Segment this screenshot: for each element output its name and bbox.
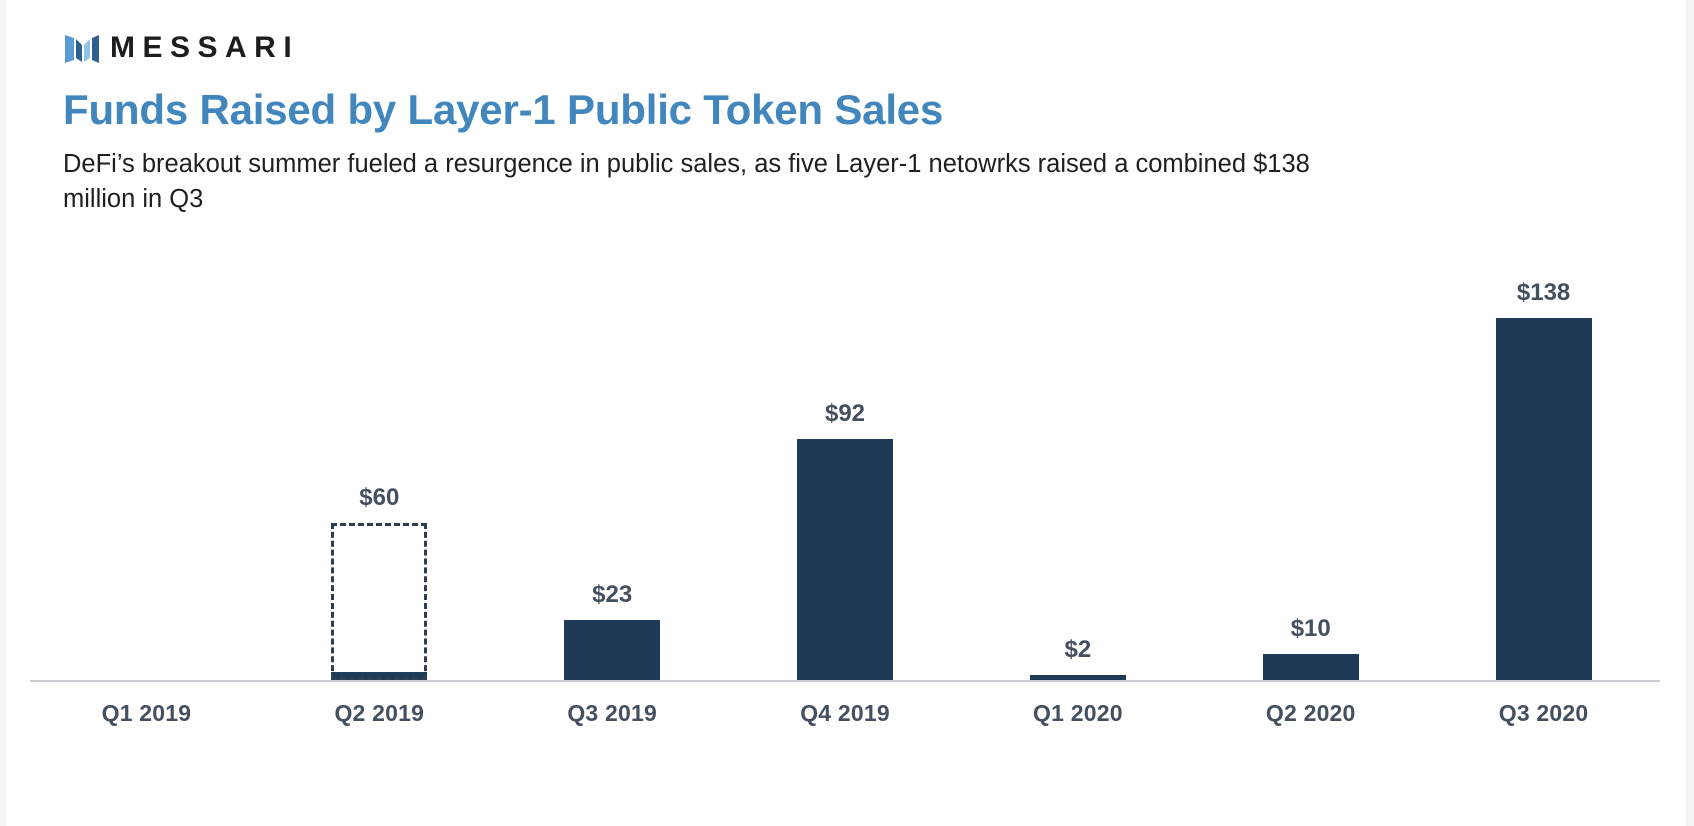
bar-rect[interactable] [564,620,660,680]
bar-column-q4-2019[interactable]: $92 [797,236,893,680]
x-axis-labels: Q1 2019Q2 2019Q3 2019Q4 2019Q1 2020Q2 20… [30,700,1660,727]
chart-page: MESSARI Funds Raised by Layer-1 Public T… [0,0,1694,826]
bar-value-label: $23 [592,583,632,607]
messari-m-logo-icon [63,31,101,65]
bar-value-label: $2 [1065,638,1092,662]
bar-slot: $23 [496,236,729,680]
bar-rect[interactable] [797,439,893,680]
page-right-edge [1686,0,1694,826]
x-axis-tick-label: Q2 2019 [263,700,496,727]
bar-column-q3-2020[interactable]: $138 [1496,236,1592,680]
bar-column-q1-2019[interactable] [98,236,194,680]
bar-value-label: $10 [1291,617,1331,641]
x-axis-tick-label: Q3 2019 [496,700,729,727]
bar-value-label: $138 [1517,281,1570,305]
bar-slot: $60 [263,236,496,680]
bar-value-label: $92 [825,402,865,426]
x-axis-tick-label: Q1 2019 [30,700,263,727]
bar-rect[interactable] [1496,318,1592,680]
page-subtitle: DeFi’s breakout summer fueled a resurgen… [63,147,1323,218]
bar-value-label: $60 [359,486,399,510]
brand-lockup: MESSARI [63,28,1623,68]
brand-name: MESSARI [110,33,299,63]
bar-column-q1-2020[interactable]: $2 [1030,236,1126,680]
bar-slot: $10 [1194,236,1427,680]
x-axis-tick-label: Q2 2020 [1194,700,1427,727]
chart-plot-area: $60$23$92$2$10$138 [30,236,1660,682]
x-axis-tick-label: Q3 2020 [1427,700,1660,727]
x-axis-tick-label: Q4 2019 [729,700,962,727]
bar-column-q2-2020[interactable]: $10 [1263,236,1359,680]
bar-column-q2-2019[interactable]: $60 [331,236,427,680]
bar-slot [30,236,263,680]
bar-slot: $92 [729,236,962,680]
bar-ghost-outline [331,523,427,680]
page-left-edge [0,0,6,826]
chart-header: MESSARI Funds Raised by Layer-1 Public T… [63,28,1623,218]
bar-column-q3-2019[interactable]: $23 [564,236,660,680]
bar-slot: $138 [1427,236,1660,680]
bar-slot: $2 [961,236,1194,680]
x-axis-tick-label: Q1 2020 [961,700,1194,727]
chart-footnote [190,804,1570,822]
page-title: Funds Raised by Layer-1 Public Token Sal… [63,88,1623,133]
bar-series: $60$23$92$2$10$138 [30,236,1660,680]
x-axis-line [30,680,1660,682]
bar-rect[interactable] [1263,654,1359,680]
